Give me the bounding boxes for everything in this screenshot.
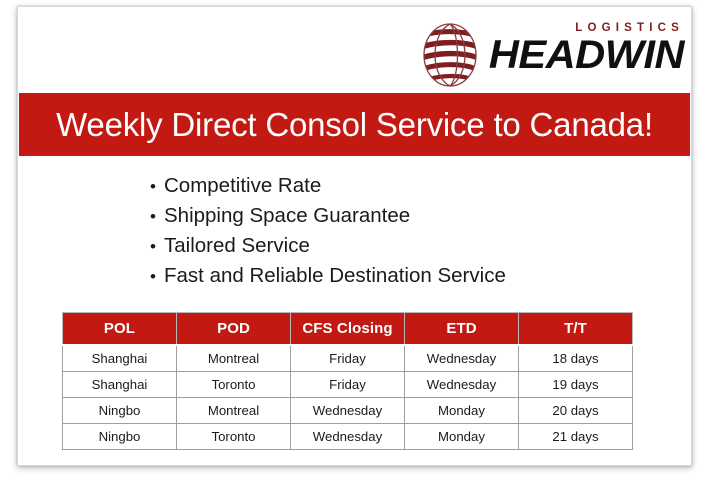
cell-pol: Shanghai xyxy=(63,345,177,372)
table-row: Ningbo Toronto Wednesday Monday 21 days xyxy=(63,424,633,450)
logo-brand-name: HEADWIN xyxy=(472,32,684,78)
table-header-row: POL POD CFS Closing ETD T/T xyxy=(63,313,633,346)
cell-pol: Shanghai xyxy=(63,372,177,398)
cell-pol: Ningbo xyxy=(63,398,177,424)
table-row: Ningbo Montreal Wednesday Monday 20 days xyxy=(63,398,633,424)
cell-etd: Wednesday xyxy=(405,345,519,372)
company-logo: LOGISTICS HEADWIN xyxy=(408,19,684,87)
banner-title-text: Weekly Direct Consol Service to Canada! xyxy=(56,106,653,144)
cell-tt: 21 days xyxy=(519,424,633,450)
column-header-pol: POL xyxy=(63,313,177,346)
cell-pod: Montreal xyxy=(177,398,291,424)
column-header-tt: T/T xyxy=(519,313,633,346)
table-row: Shanghai Montreal Friday Wednesday 18 da… xyxy=(63,345,633,372)
column-header-cfs-closing: CFS Closing xyxy=(291,313,405,346)
feature-label: Tailored Service xyxy=(164,231,310,261)
bullet-icon: • xyxy=(150,232,164,262)
cell-cfs-closing: Friday xyxy=(291,372,405,398)
schedule-table: POL POD CFS Closing ETD T/T Shanghai Mon… xyxy=(62,312,633,450)
bullet-icon: • xyxy=(150,202,164,232)
feature-item: • Shipping Space Guarantee xyxy=(150,201,600,231)
feature-list: • Competitive Rate • Shipping Space Guar… xyxy=(150,171,600,291)
column-header-pod: POD xyxy=(177,313,291,346)
flyer-card: LOGISTICS HEADWIN Weekly Direct Consol S… xyxy=(17,6,692,466)
feature-label: Fast and Reliable Destination Service xyxy=(164,261,506,291)
bullet-icon: • xyxy=(150,262,164,292)
cell-tt: 20 days xyxy=(519,398,633,424)
feature-item: • Fast and Reliable Destination Service xyxy=(150,261,600,291)
cell-tt: 18 days xyxy=(519,345,633,372)
feature-label: Shipping Space Guarantee xyxy=(164,201,410,231)
cell-cfs-closing: Wednesday xyxy=(291,424,405,450)
cell-pod: Toronto xyxy=(177,424,291,450)
column-header-etd: ETD xyxy=(405,313,519,346)
title-banner: Weekly Direct Consol Service to Canada! xyxy=(19,93,690,156)
cell-etd: Monday xyxy=(405,398,519,424)
cell-pod: Toronto xyxy=(177,372,291,398)
cell-tt: 19 days xyxy=(519,372,633,398)
table-row: Shanghai Toronto Friday Wednesday 19 day… xyxy=(63,372,633,398)
cell-cfs-closing: Friday xyxy=(291,345,405,372)
feature-label: Competitive Rate xyxy=(164,171,321,201)
feature-item: • Competitive Rate xyxy=(150,171,600,201)
bullet-icon: • xyxy=(150,172,164,202)
cell-pol: Ningbo xyxy=(63,424,177,450)
cell-pod: Montreal xyxy=(177,345,291,372)
cell-etd: Monday xyxy=(405,424,519,450)
feature-item: • Tailored Service xyxy=(150,231,600,261)
cell-etd: Wednesday xyxy=(405,372,519,398)
cell-cfs-closing: Wednesday xyxy=(291,398,405,424)
